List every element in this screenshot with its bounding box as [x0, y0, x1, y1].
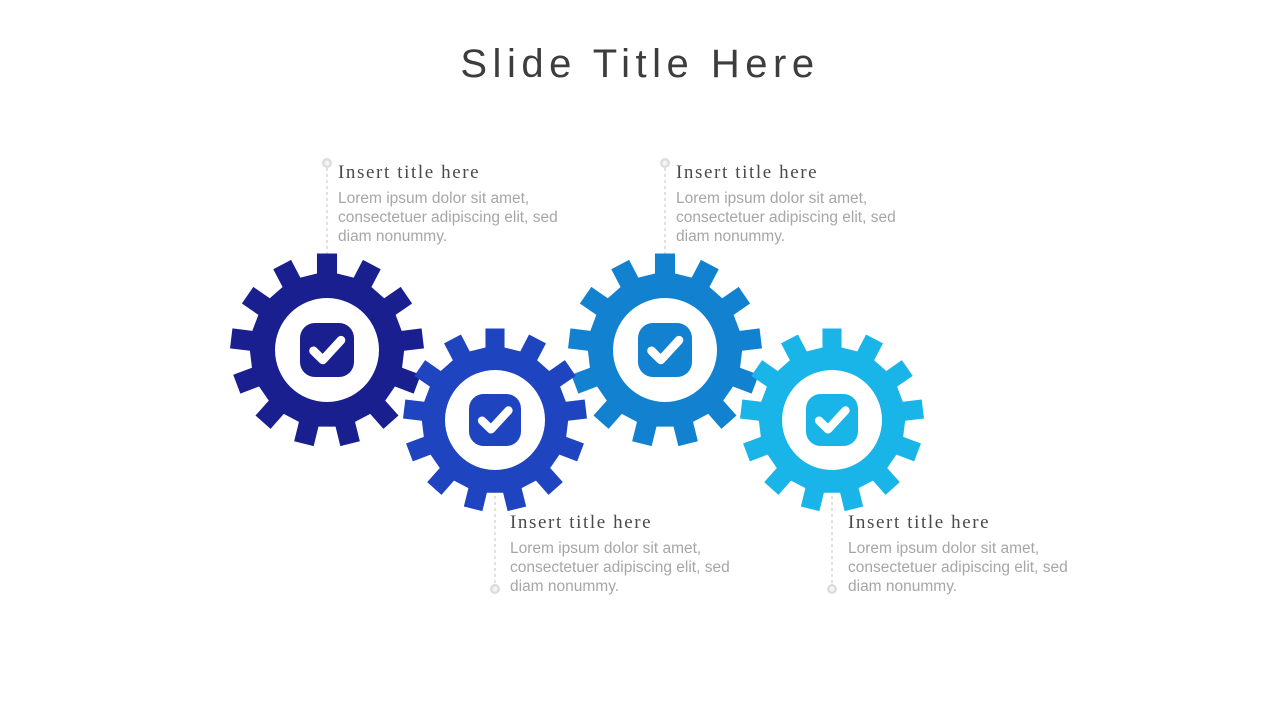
callout-2-title: Insert title here [676, 161, 926, 185]
connector-dot-4-inner [829, 586, 834, 591]
callout-2-body: Lorem ipsum dolor sit amet, consectetuer… [676, 190, 926, 247]
gear-3[interactable] [568, 254, 762, 447]
callout-4[interactable]: Insert title here Lorem ipsum dolor sit … [848, 511, 1098, 596]
connector-dot-3-inner [662, 160, 667, 165]
gear-diagram [0, 0, 1280, 720]
callout-1[interactable]: Insert title here Lorem ipsum dolor sit … [338, 161, 588, 246]
connector-dot-2-inner [492, 586, 497, 591]
slide-canvas: Slide Title Here [0, 0, 1280, 720]
callout-1-title: Insert title here [338, 161, 588, 185]
gear-4[interactable] [740, 329, 924, 512]
gear-1[interactable] [230, 254, 424, 447]
callout-3-title: Insert title here [510, 511, 760, 535]
gear-2[interactable] [403, 329, 587, 512]
callout-3[interactable]: Insert title here Lorem ipsum dolor sit … [510, 511, 760, 596]
callout-4-body: Lorem ipsum dolor sit amet, consectetuer… [848, 540, 1098, 597]
callout-2[interactable]: Insert title here Lorem ipsum dolor sit … [676, 161, 926, 246]
connector-dot-1-inner [324, 160, 329, 165]
callout-3-body: Lorem ipsum dolor sit amet, consectetuer… [510, 540, 760, 597]
callout-1-body: Lorem ipsum dolor sit amet, consectetuer… [338, 190, 588, 247]
callout-4-title: Insert title here [848, 511, 1098, 535]
